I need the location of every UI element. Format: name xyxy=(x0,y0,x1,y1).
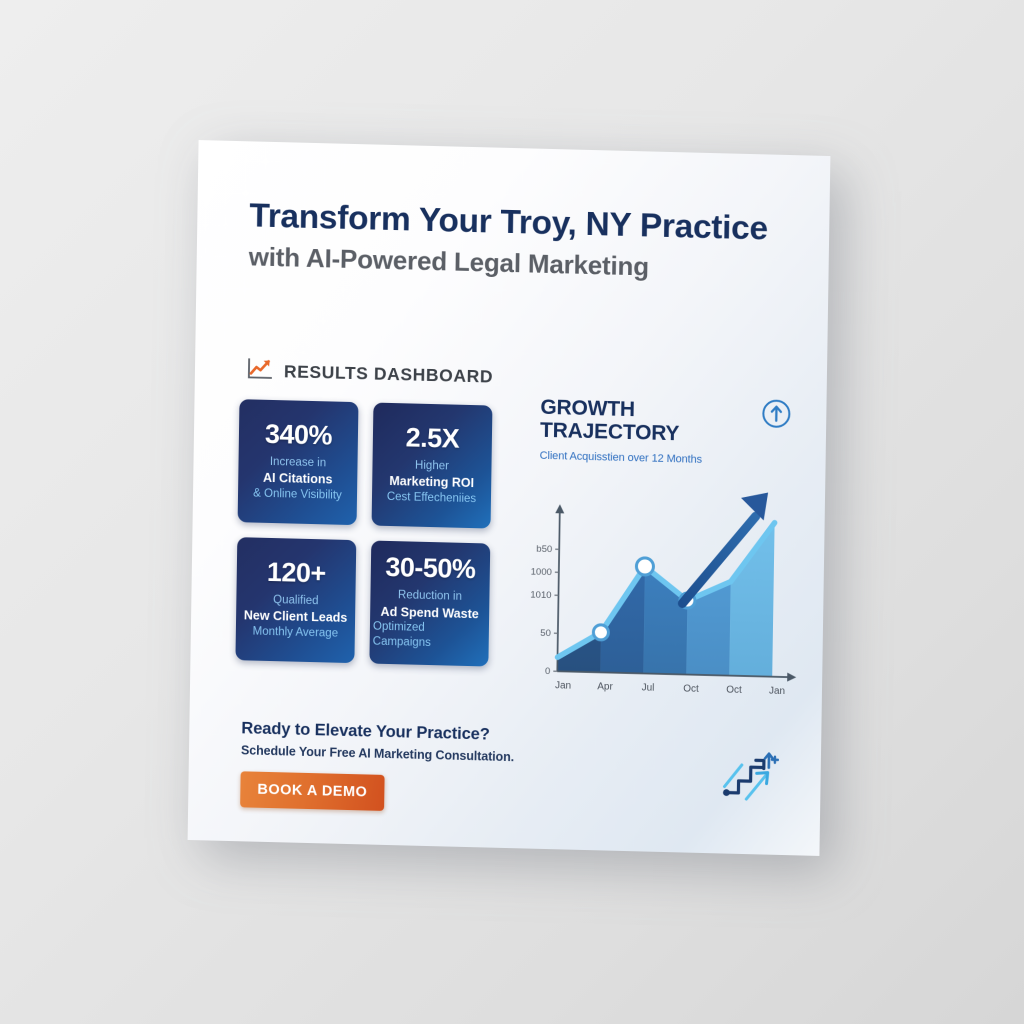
page-title: Transform Your Troy, NY Practice xyxy=(249,197,809,249)
results-dashboard-header: RESULTS DASHBOARD xyxy=(247,356,494,391)
chart-x-ticks: Jan Apr Jul Oct Oct Jan xyxy=(555,680,785,697)
trending-up-chart-icon xyxy=(247,356,273,386)
stat-value: 2.5X xyxy=(405,424,459,452)
svg-text:0: 0 xyxy=(545,666,550,677)
chart-y-ticks: 0 50 1010 1000 b50 xyxy=(529,544,559,678)
chart-title: GROWTH TRAJECTORY xyxy=(540,397,680,446)
stat-line-3: & Online Visibility xyxy=(253,486,342,503)
headline-block: Transform Your Troy, NY Practice with AI… xyxy=(249,197,810,286)
chart-title-line-2: TRAJECTORY xyxy=(540,419,680,445)
stat-card-marketing-roi[interactable]: 2.5X Higher Marketing ROI Cest Effecheni… xyxy=(372,403,493,529)
svg-text:Jul: Jul xyxy=(642,682,655,693)
svg-text:Oct: Oct xyxy=(683,683,699,694)
stat-line-2: AI Citations xyxy=(263,470,333,488)
poster-panel-wrapper: Transform Your Troy, NY Practice with AI… xyxy=(188,140,831,856)
stat-card-client-leads[interactable]: 120+ Qualified New Client Leads Monthly … xyxy=(235,537,356,663)
svg-text:50: 50 xyxy=(540,628,551,639)
svg-text:b50: b50 xyxy=(536,544,552,555)
cta-block: Ready to Elevate Your Practice? Schedule… xyxy=(240,719,661,818)
stat-line-1: Qualified xyxy=(273,593,319,609)
section-title: RESULTS DASHBOARD xyxy=(284,361,493,387)
screenshot-canvas: Transform Your Troy, NY Practice with AI… xyxy=(0,0,1024,1024)
svg-text:1010: 1010 xyxy=(530,590,551,602)
book-a-demo-button[interactable]: BOOK A DEMO xyxy=(240,771,384,811)
stat-value: 120+ xyxy=(267,559,326,587)
page-subtitle: with AI-Powered Legal Marketing xyxy=(249,242,809,286)
stat-card-ai-citations[interactable]: 340% Increase in AI Citations & Online V… xyxy=(238,399,359,525)
stat-line-1: Reduction in xyxy=(398,589,462,606)
stat-card-grid: 340% Increase in AI Citations & Online V… xyxy=(235,399,492,666)
svg-text:Apr: Apr xyxy=(597,681,613,692)
poster-panel: Transform Your Troy, NY Practice with AI… xyxy=(188,140,831,856)
stat-line-3: Monthly Average xyxy=(253,624,339,641)
stat-line-3: Optimized Campaigns xyxy=(373,620,486,653)
svg-text:Oct: Oct xyxy=(726,685,742,696)
growth-trajectory-chart: 0 50 1010 1000 b50 xyxy=(495,458,814,716)
stat-line-1: Higher xyxy=(415,459,449,475)
stat-value: 30-50% xyxy=(385,554,475,583)
circled-up-arrow-icon xyxy=(760,397,793,435)
svg-text:Jan: Jan xyxy=(769,686,785,697)
growth-arrows-icon xyxy=(716,748,779,817)
stat-line-1: Increase in xyxy=(270,455,326,472)
stat-card-ad-spend-waste[interactable]: 30-50% Reduction in Ad Spend Waste Optim… xyxy=(369,541,490,667)
svg-text:Jan: Jan xyxy=(555,680,571,691)
stat-line-3: Cest Effecheniies xyxy=(387,490,477,507)
growth-chart-panel: GROWTH TRAJECTORY Client Acquisstien ove… xyxy=(530,397,815,719)
stat-value: 340% xyxy=(265,421,332,450)
svg-text:1000: 1000 xyxy=(531,567,552,579)
